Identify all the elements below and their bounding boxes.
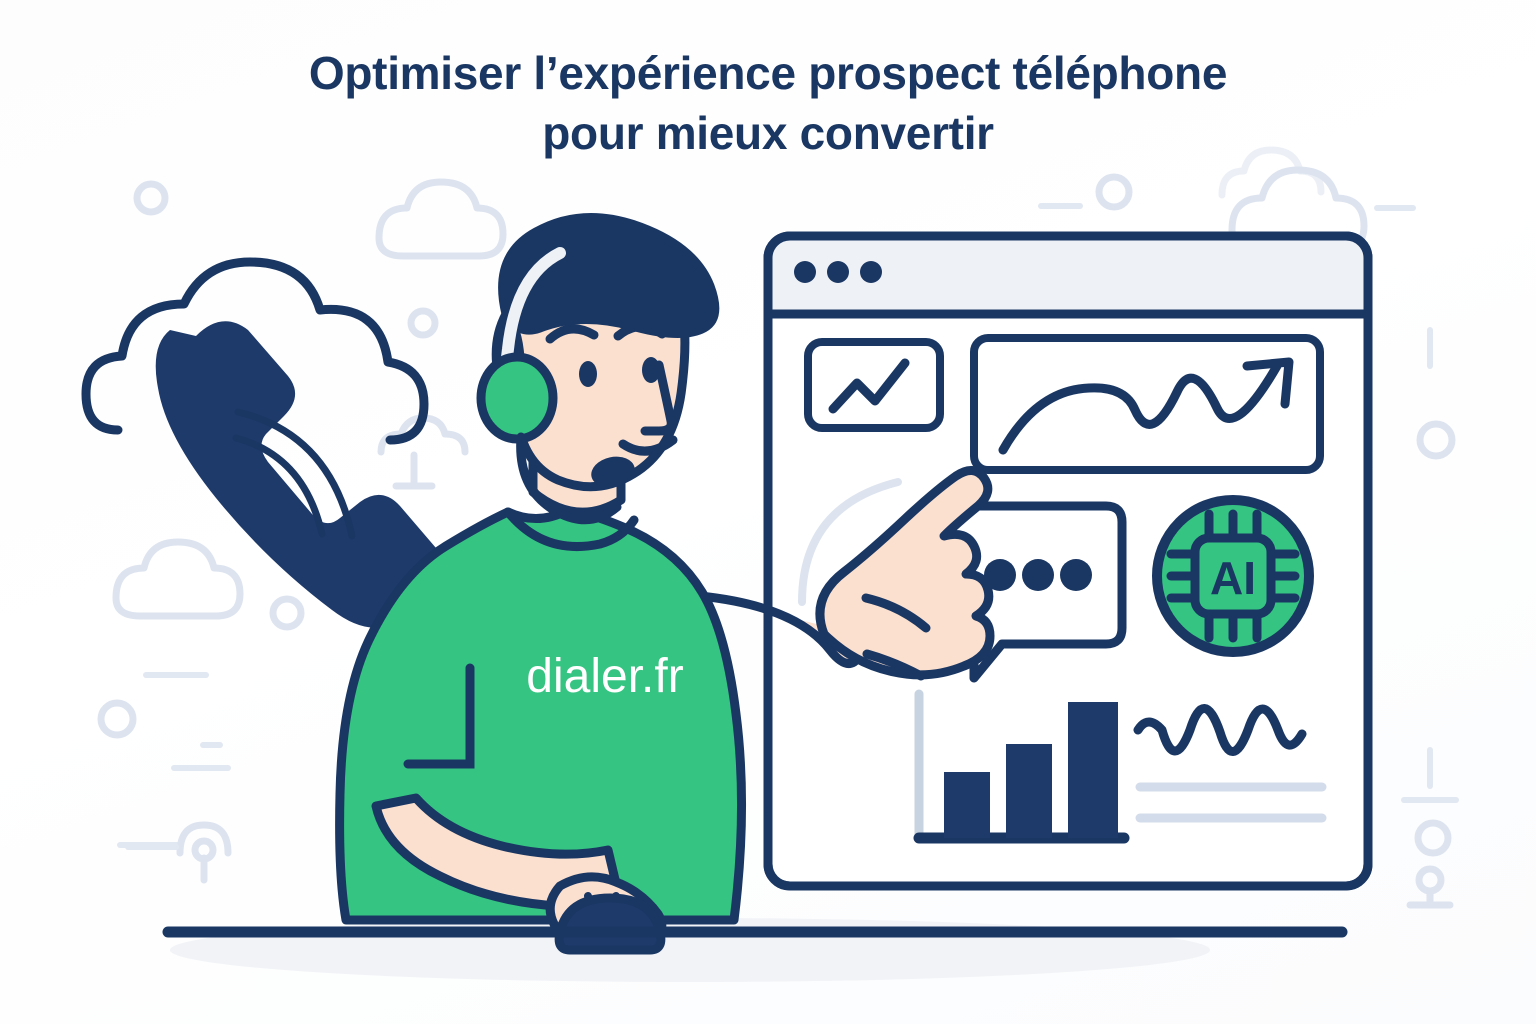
window-dot-2 [827,261,849,283]
window-controls[interactable] [794,261,882,283]
chart-bar [1068,702,1118,838]
circle-decor-icon [101,703,133,735]
window-dot-1 [794,261,816,283]
headset-earcup [481,357,553,439]
cloud-call-icon [86,262,444,628]
circle-decor-icon [1418,823,1448,853]
pin-decor-icon [1410,869,1450,905]
typing-dot [1060,559,1092,591]
location-pin-decor-icon [128,825,228,880]
circle-decor-icon [411,311,435,335]
ai-badge-label: AI [1210,552,1256,604]
circle-decor-icon [1420,424,1452,456]
trend-chart-card[interactable] [974,338,1320,470]
sparkline-card[interactable] [808,342,940,428]
typing-dot [1022,559,1054,591]
hero-illustration: .nv-s { fill:none; stroke:#1a3763; strok… [0,0,1536,1024]
computer-mouse [559,898,661,950]
circle-decor-icon [1099,177,1129,207]
shirt-logo: dialer.fr [526,650,683,703]
illustration-canvas: Optimiser l’expérience prospect téléphon… [0,0,1536,1024]
cloud-decor-icon [379,182,503,256]
ai-badge[interactable]: AI [1157,500,1309,652]
cloud-decor-icon [116,542,240,616]
eye-left [579,361,597,387]
circle-decor-icon [273,599,301,627]
cloud-decor-icon [1222,150,1321,195]
chart-bar [944,772,990,838]
circle-decor-icon [137,184,165,212]
chart-bar [1006,744,1052,838]
window-dot-3 [860,261,882,283]
